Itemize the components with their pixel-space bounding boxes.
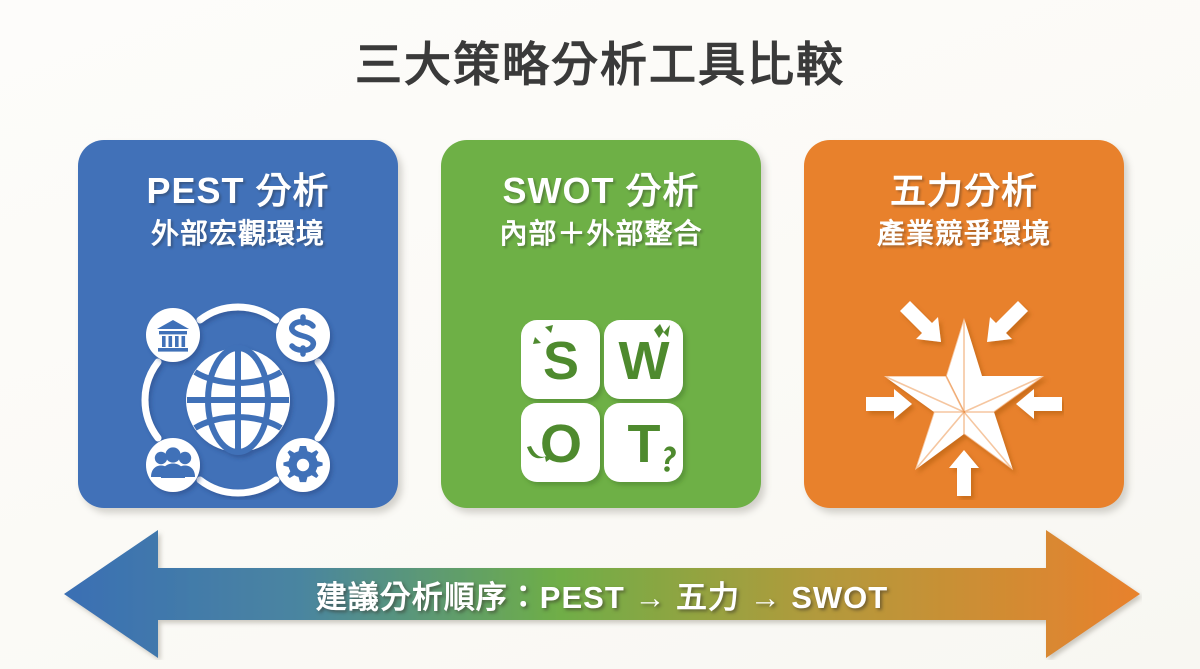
- card-pest-title: PEST 分析: [146, 171, 329, 211]
- star-five-arrows-icon: [864, 300, 1064, 500]
- swot-grid-icon: S W O T: [501, 300, 701, 500]
- svg-text:S: S: [543, 331, 579, 391]
- svg-text:O: O: [540, 414, 582, 474]
- card-five-forces-title: 五力分析: [890, 171, 1038, 211]
- card-swot-title: SWOT 分析: [503, 171, 700, 211]
- card-swot-subtitle: 內部＋外部整合: [499, 219, 702, 250]
- slide-canvas: 三大策略分析工具比較 PEST 分析 外部宏觀環境: [0, 0, 1200, 669]
- globe-network-icon: [138, 300, 338, 500]
- analysis-order-banner: 建議分析順序：PEST → 五力 → SWOT: [62, 528, 1142, 660]
- card-pest-subtitle: 外部宏觀環境: [151, 219, 325, 250]
- svg-text:T: T: [628, 414, 661, 474]
- page-title: 三大策略分析工具比較: [0, 38, 1200, 92]
- cards-row: PEST 分析 外部宏觀環境: [78, 140, 1124, 508]
- card-swot[interactable]: SWOT 分析 內部＋外部整合 S: [441, 140, 761, 508]
- card-five-forces-subtitle: 產業競爭環境: [877, 219, 1051, 250]
- svg-text:W: W: [619, 331, 670, 391]
- card-pest[interactable]: PEST 分析 外部宏觀環境: [78, 140, 398, 508]
- card-five-forces[interactable]: 五力分析 產業競爭環境: [804, 140, 1124, 508]
